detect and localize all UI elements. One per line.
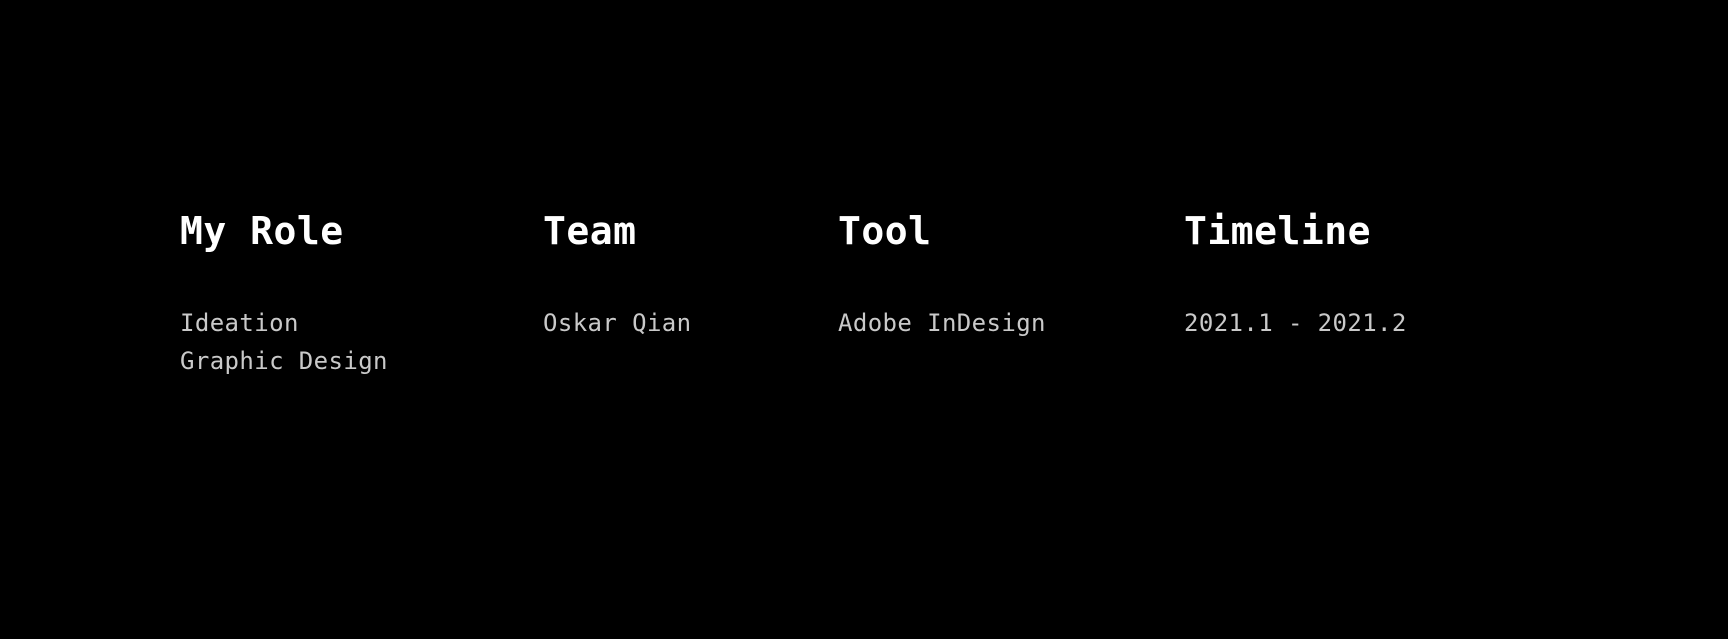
credit-value-line: Oskar Qian	[543, 304, 838, 342]
credit-heading-my-role: My Role	[180, 212, 543, 304]
credits-grid: My Role Team Tool Timeline Ideation Grap…	[180, 212, 1600, 380]
credit-values-team: Oskar Qian	[543, 304, 838, 342]
credit-value-line: 2021.1 - 2021.2	[1184, 304, 1600, 342]
credit-values-my-role: Ideation Graphic Design	[180, 304, 543, 380]
credit-heading-timeline: Timeline	[1184, 212, 1600, 304]
credit-heading-tool: Tool	[838, 212, 1184, 304]
project-credits-slide: My Role Team Tool Timeline Ideation Grap…	[0, 0, 1728, 639]
credit-value-line: Ideation	[180, 304, 543, 342]
credit-value-line: Adobe InDesign	[838, 304, 1184, 342]
credit-value-line: Graphic Design	[180, 342, 543, 380]
credit-heading-team: Team	[543, 212, 838, 304]
credit-values-tool: Adobe InDesign	[838, 304, 1184, 342]
credit-values-timeline: 2021.1 - 2021.2	[1184, 304, 1600, 342]
